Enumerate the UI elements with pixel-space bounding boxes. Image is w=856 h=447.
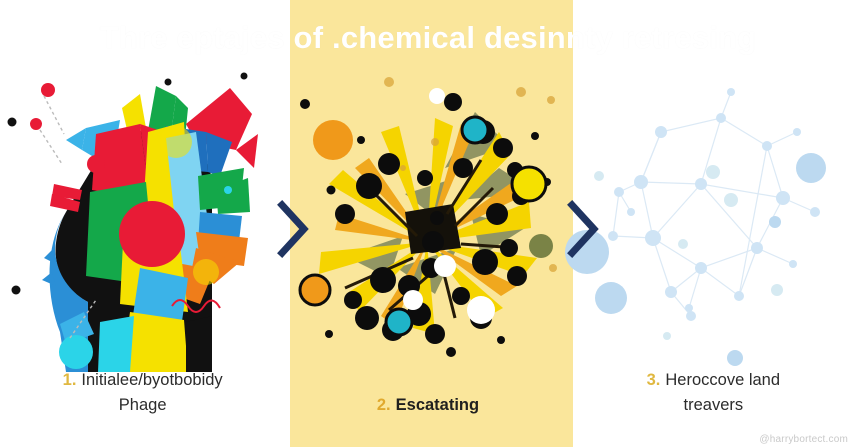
steps-row: 1.Initialee/byotbobidy Phage [0,0,856,447]
chevron-right-icon-1 [276,200,310,258]
step-number-2: 2. [377,396,391,414]
step-caption-2: 2.Escatating [285,393,570,419]
step-column-2[interactable]: 2.Escatating [285,0,570,447]
step-column-1[interactable]: 1.Initialee/byotbobidy Phage [0,0,285,447]
step-column-3[interactable]: 3.Heroccove land treavers [571,0,856,447]
step-label-3-line1: Heroccove land [665,371,780,389]
step-label-1-line2: Phage [0,393,285,419]
watermark: @harrybortect.com [759,434,848,445]
chevron-right-icon-2 [566,200,600,258]
step-label-2-line1: Escatating [396,396,479,414]
step-label-1-line1: Initialee/byotbobidy [81,371,222,389]
illustration-network-nodes [571,72,856,364]
step-number-3: 3. [647,371,661,389]
illustration-yellow-burst [285,72,570,364]
step-label-3-line2: treavers [571,393,856,419]
step-caption-1: 1.Initialee/byotbobidy Phage [0,368,285,419]
infographic-canvas: Thre eptajes of .chemical desinnty retre… [0,0,856,447]
step-caption-3: 3.Heroccove land treavers [571,368,856,419]
step-number-1: 1. [63,371,77,389]
illustration-abstract-head [0,72,285,364]
